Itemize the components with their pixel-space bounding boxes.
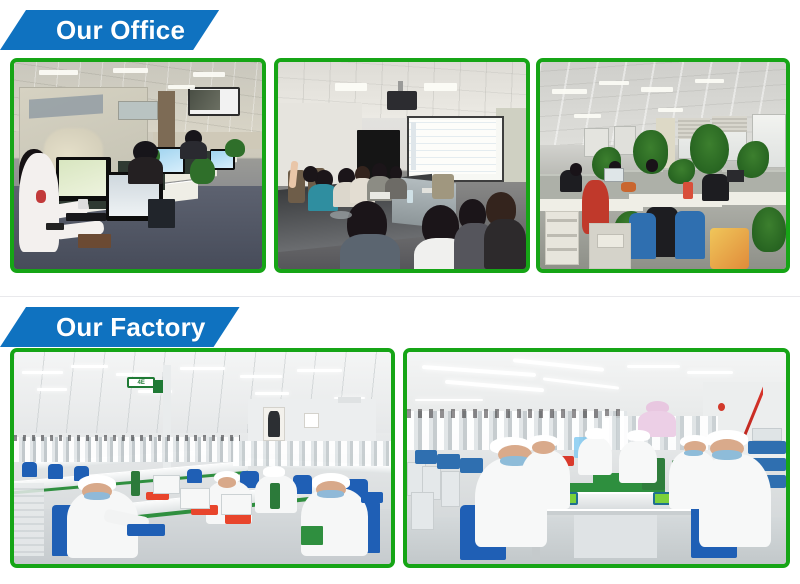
office-section: Our Office bbox=[0, 0, 800, 290]
factory-banner: Our Factory bbox=[0, 307, 240, 347]
factory-section: Our Factory 4E bbox=[0, 297, 800, 584]
office-workstations-scene bbox=[14, 62, 262, 269]
factory-banner-wrap: Our Factory bbox=[0, 297, 800, 349]
office-meeting-room-photo bbox=[274, 58, 530, 273]
factory-assembly-hall-scene: 4E bbox=[14, 352, 391, 564]
office-meeting-room-scene bbox=[278, 62, 526, 269]
factory-workbench-photo bbox=[403, 348, 790, 568]
factory-line-sign-label: 4E bbox=[138, 380, 145, 386]
office-banner: Our Office bbox=[0, 10, 219, 50]
office-open-plan-photo bbox=[536, 58, 790, 273]
office-open-plan-scene bbox=[540, 62, 786, 269]
factory-workbench-scene bbox=[407, 352, 786, 564]
factory-banner-label: Our Factory bbox=[0, 312, 240, 343]
factory-assembly-hall-photo: 4E bbox=[10, 348, 395, 568]
office-banner-wrap: Our Office bbox=[0, 0, 800, 52]
factory-line-sign: 4E bbox=[127, 377, 155, 388]
office-workstations-photo bbox=[10, 58, 266, 273]
office-banner-label: Our Office bbox=[0, 15, 219, 46]
